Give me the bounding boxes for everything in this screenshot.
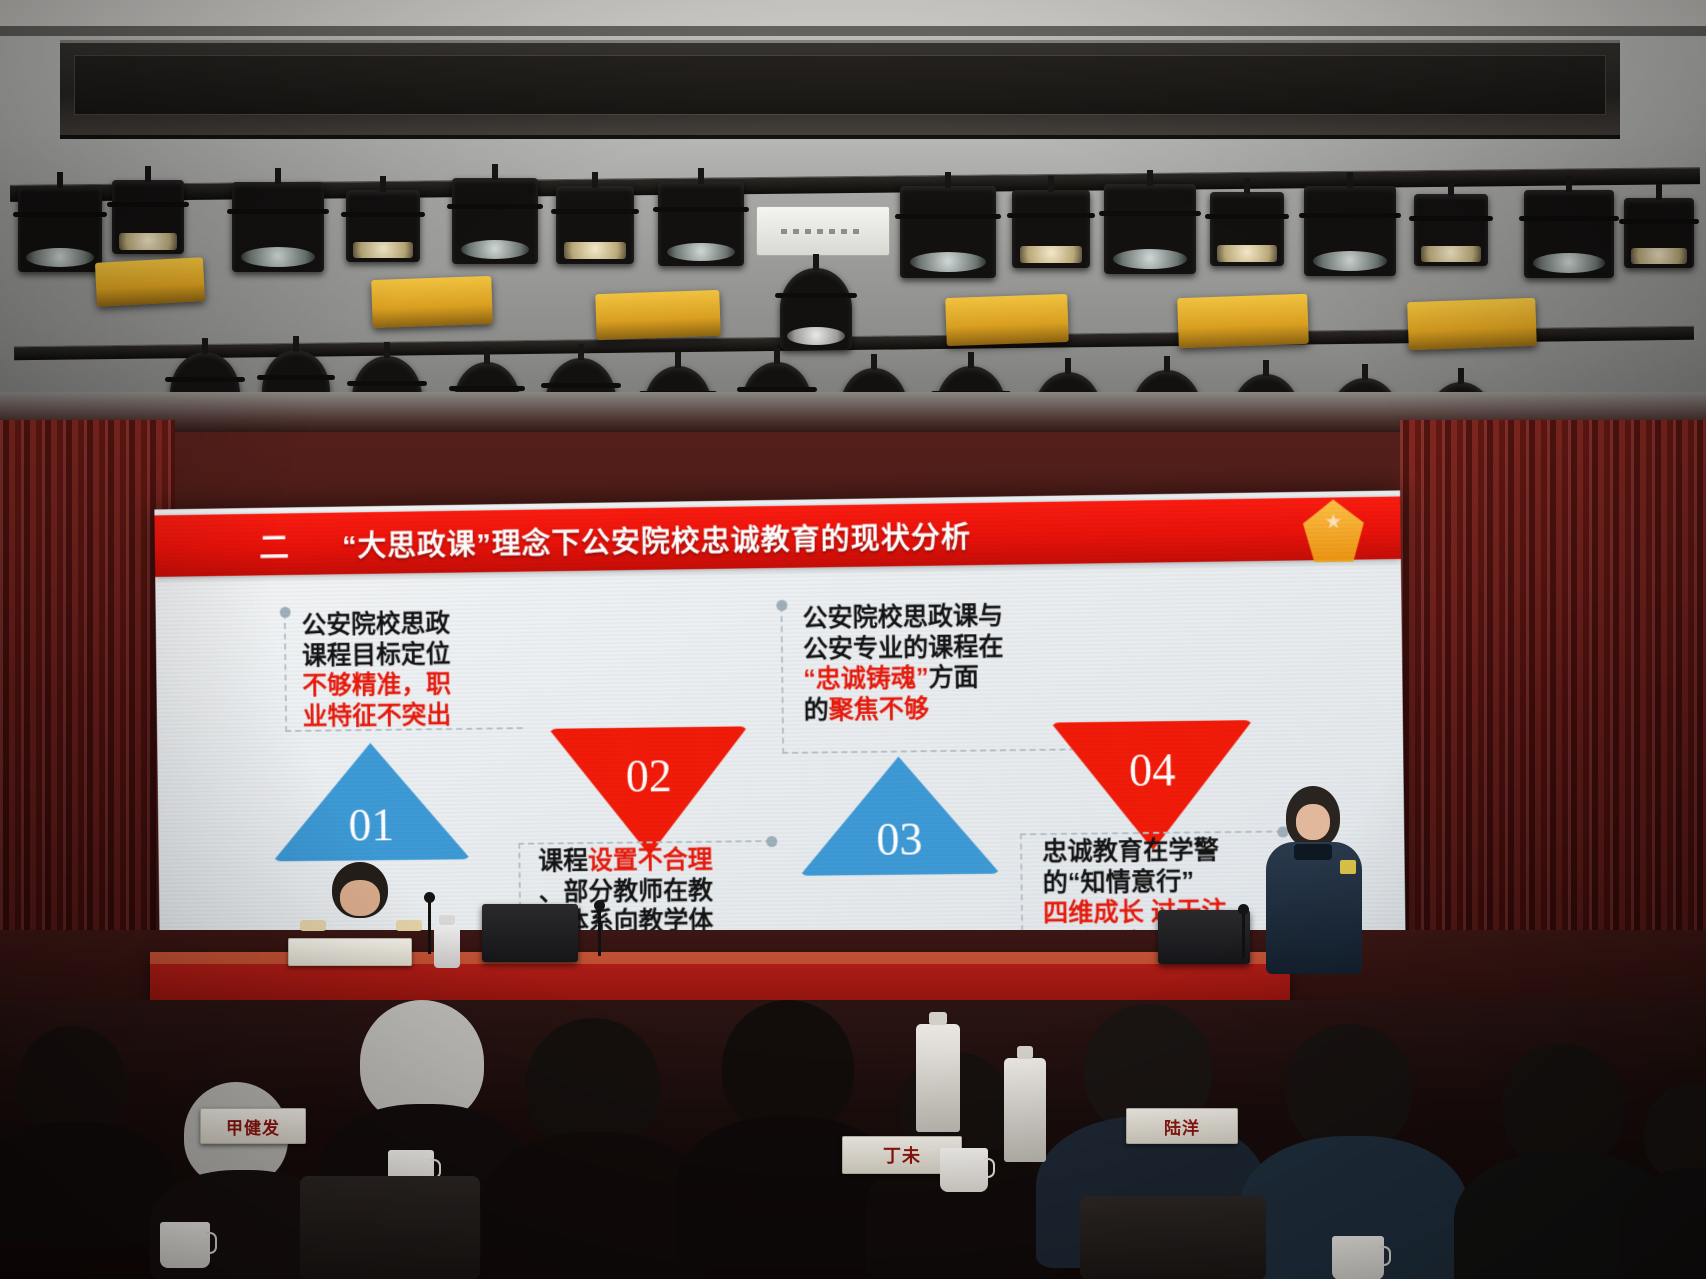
moving-head-icon [18,186,102,272]
callout-03-line-3: “忠诚铸魂”方面 [803,661,1117,696]
par-can-icon [780,268,852,350]
presenter-face [1296,804,1330,840]
conference-hall-photo: 二 “大思政课”理念下公安院校忠诚教育的现状分析 公安院校思政 课程目标定位 不… [0,0,1706,1279]
slide-title-banner: 二 “大思政课”理念下公安院校忠诚教育的现状分析 [154,496,1400,576]
marker-number-02: 02 [549,748,749,803]
audience-member [686,1000,886,1250]
seated-official-epaulette [396,920,422,931]
callout-04-line-2a: 的 [1043,868,1069,896]
fresnel-lamp-icon [1624,198,1694,268]
seated-official-epaulette [300,920,326,931]
marker-number-03: 03 [799,811,1000,866]
blinder-icon [595,290,721,340]
moving-head-icon [232,182,324,272]
tea-cup-icon [1332,1236,1384,1279]
callout-01-line-1: 公安院校思政 [301,607,533,641]
ceiling-shadow-band [0,26,1706,36]
marker-triangle-01: 01 [272,742,471,862]
callout-03-line-3b: 方面 [928,663,979,692]
marker-triangle-02: 02 [549,726,750,856]
marker-number-01: 01 [272,797,470,852]
callout-03-line-4: 的聚焦不够 [804,691,1118,726]
fresnel-lamp-icon [346,190,420,262]
head-table-placard [288,938,412,966]
callout-01-line-3: 不够精准，职 [302,668,534,701]
callout-text-03: 公安院校思政课与 公安专业的课程在 “忠诚铸魂”方面 的聚焦不够 [802,599,1117,725]
audience-area: 甲健发 朱明 丁未 陆洋 [0,1000,1706,1279]
tea-cup-icon [940,1148,988,1192]
audience-member [1630,1084,1706,1279]
presenter-collar [1294,844,1332,860]
callout-01-line-4: 业特征不突出 [303,699,535,732]
ceiling-beam [60,40,1620,139]
chair-back [1080,1196,1266,1279]
audience-member [0,1026,170,1226]
callout-03-line-1: 公安院校思政课与 [802,599,1116,634]
vacuum-flask-icon [1004,1058,1046,1162]
fresnel-lamp-icon [1414,194,1488,266]
female-police-presenter [1256,786,1372,972]
blinder-icon [945,294,1069,346]
callout-03-line-2: 公安专业的课程在 [803,630,1117,665]
presenter-shoulder-badge [1340,860,1356,874]
blinder-icon [1177,294,1309,349]
slide-section-number: 二 [225,521,324,568]
tea-cup-icon [160,1222,210,1268]
laptop-icon [1158,910,1250,964]
laptop-icon [482,904,578,962]
name-placard: 甲健发 [200,1108,306,1144]
house-light-panel [756,206,890,256]
police-emblem-icon [1303,499,1365,562]
chair-back [300,1176,480,1279]
callout-01-line-2: 课程目标定位 [302,638,534,671]
callout-03-line-4b: 聚焦不够 [829,695,930,724]
callout-02-line-1b: 设置不合理 [588,846,713,875]
slide-title-text: “大思政课”理念下公安院校忠诚教育的现状分析 [342,504,1279,570]
callout-text-01: 公安院校思政 课程目标定位 不够精准，职 业特征不突出 [301,607,534,731]
callout-02-line-1: 课程设置不合理 [538,844,794,877]
callout-03-line-3a: “忠诚铸魂” [803,664,929,694]
moving-head-icon [1104,184,1196,274]
blinder-icon [95,257,205,307]
audience-member [500,1018,690,1258]
vacuum-flask-icon [916,1024,960,1132]
microphone-icon [1242,912,1245,958]
moving-head-icon [900,186,996,278]
name-placard: 陆洋 [1126,1108,1238,1144]
microphone-icon [428,900,431,954]
callout-02-line-2: 、部分教师在教 [539,874,795,907]
blinder-icon [1407,298,1537,350]
callout-04-line-2b: “知情意行” [1068,867,1194,896]
blinder-icon [371,276,493,328]
marker-triangle-03: 03 [798,755,1000,875]
moving-head-icon [1304,186,1396,276]
ceiling-slab [0,0,1706,26]
fresnel-lamp-icon [112,180,184,254]
moving-head-icon [1524,190,1614,278]
thermos-icon [434,924,460,968]
callout-02-line-1a: 课程 [538,847,588,875]
callout-03-line-4a: 的 [804,696,829,724]
fresnel-lamp-icon [1012,190,1090,268]
moving-head-icon [452,178,538,264]
microphone-icon [598,908,601,956]
seated-official-face [340,880,380,916]
moving-head-icon [658,182,744,266]
fresnel-lamp-icon [1210,192,1284,266]
marker-number-04: 04 [1051,742,1254,798]
fresnel-lamp-icon [556,186,634,264]
